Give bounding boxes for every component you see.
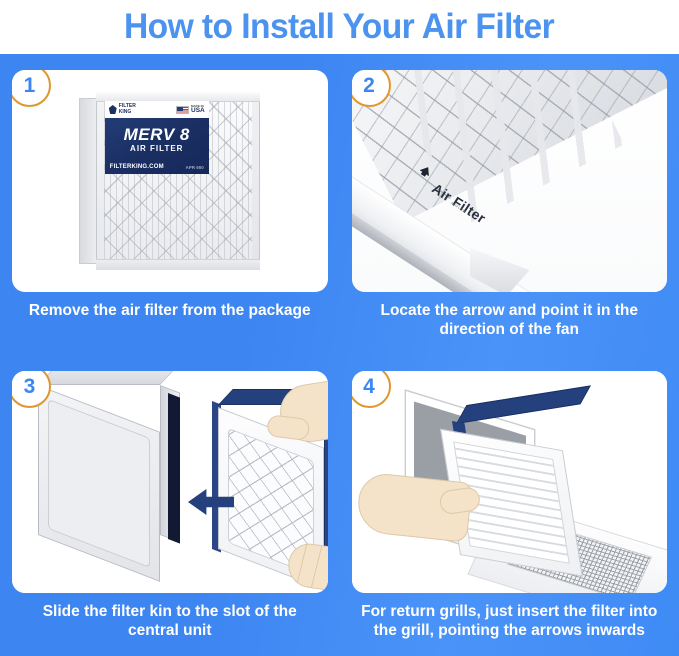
filter-side-edge [79, 98, 97, 264]
crown-icon [109, 105, 117, 114]
brand-name: FILTER KING [119, 104, 136, 115]
step-4-image-card: 4 [352, 371, 668, 593]
step-1-image-card: 1 FILTER KING [12, 70, 328, 292]
filter-king-logo: FILTER KING [109, 104, 136, 115]
brand-line-2: KING [119, 110, 136, 115]
filter-bottom-frame [96, 259, 260, 270]
air-filter-product-image: FILTER KING MADE IN USA [79, 92, 261, 270]
usa-flag-icon [176, 106, 189, 114]
label-header-bar: FILTER KING MADE IN USA [105, 101, 209, 118]
step-1-caption: Remove the air filter from the package [12, 301, 328, 320]
step-1-number: 1 [24, 75, 36, 96]
step-panel-1: 1 FILTER KING [0, 54, 340, 355]
step-4-number: 4 [363, 376, 375, 397]
step-2-caption: Locate the arrow and point it in the dir… [352, 301, 668, 340]
filter-corner-photo: Air Filter AIRFLOW [352, 70, 668, 292]
header: How to Install Your Air Filter [0, 0, 679, 54]
hand-holding-grill [355, 471, 473, 542]
step-panel-4: 4 For return grills, just insert the fil… [340, 355, 679, 656]
step-panel-3: 3 Slide the filter kin to the slot of [0, 355, 340, 656]
hand-upper [276, 374, 327, 447]
central-unit-top [38, 371, 179, 385]
page-title: How to Install Your Air Filter [124, 7, 554, 47]
made-in-usa-mark: MADE IN USA [176, 105, 205, 115]
step-2-image-card: 2 Air Filter AIRFLOW [352, 70, 668, 292]
step-4-caption: For return grills, just insert the filte… [352, 602, 668, 641]
usa-text: MADE IN USA [191, 105, 205, 115]
slide-filter-illustration [12, 371, 328, 593]
step-panel-2: 2 Air Filter AIRFLOW Locate the arrow an… [340, 54, 679, 355]
filter-slot-opening [168, 393, 180, 544]
steps-grid: 1 FILTER KING [0, 54, 679, 656]
filter-product-label: FILTER KING MADE IN USA [105, 101, 209, 174]
label-apr: APR 650 [185, 165, 203, 170]
step-1-badge: 1 [12, 70, 51, 107]
step-2-number: 2 [363, 75, 375, 96]
step-3-image-card: 3 [12, 371, 328, 593]
merv-rating: MERV 8 [105, 125, 209, 145]
label-website: FILTERKING.COM [110, 164, 164, 170]
label-subtitle: AIR FILTER [105, 144, 209, 153]
step-3-number: 3 [24, 376, 36, 397]
central-unit-front [38, 385, 160, 582]
grill-filter-top-frame [456, 385, 591, 424]
step-3-caption: Slide the filter kin to the slot of the … [12, 602, 328, 641]
return-grill-illustration [352, 371, 668, 593]
country-text: USA [191, 107, 205, 114]
infographic-root: How to Install Your Air Filter 1 [0, 0, 679, 656]
label-footer: FILTERKING.COM APR 650 [110, 164, 204, 170]
